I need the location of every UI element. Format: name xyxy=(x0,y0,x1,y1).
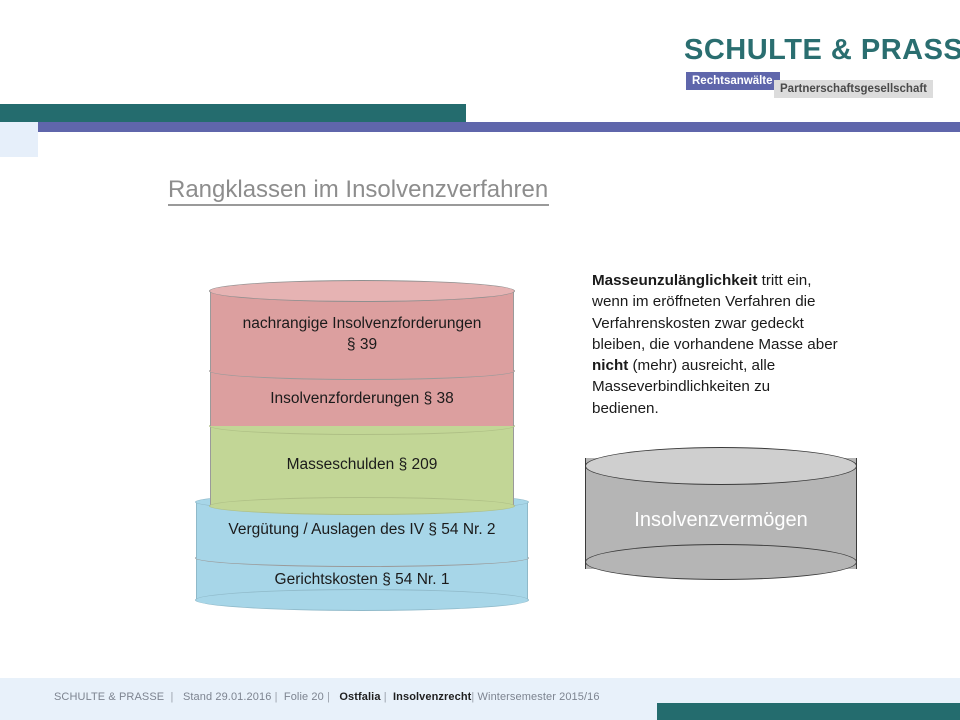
logo-wordmark: SCHULTE & PRASSE xyxy=(684,36,930,65)
cylinder-top-ellipse xyxy=(585,447,857,485)
logo-subtitle-group: Rechtsanwälte Partnerschaftsgesellschaft xyxy=(684,72,930,98)
page-title-underline xyxy=(168,204,549,206)
header-bar-purple xyxy=(38,122,960,132)
cylinder-bottom-ellipse xyxy=(585,544,857,580)
description-lead-term: Masseunzulänglichkeit xyxy=(592,272,757,289)
stack-segment-insolvenzforderungen: Insolvenzforderungen § 38 xyxy=(210,371,514,426)
stack-segment-label: nachrangige Insolvenzforderungen § 39 xyxy=(210,313,514,355)
footer-institution: Ostfalia xyxy=(339,691,380,703)
footer-sep-4: | xyxy=(381,691,393,703)
company-logo: SCHULTE & PRASSE Rechtsanwälte Partnersc… xyxy=(684,36,930,102)
footer-firm: SCHULTE & PRASSE xyxy=(54,691,164,703)
logo-tag-partnerschaftsgesellschaft: Partnerschaftsgesellschaft xyxy=(774,80,933,98)
segment-top-ellipse xyxy=(209,280,515,302)
footer-slide: Folie 20 xyxy=(284,691,324,703)
stack-segment-nachrangige-insolvenzforderungen: nachrangige Insolvenzforderungen § 39 xyxy=(210,291,514,371)
footer-sep-3: | xyxy=(324,691,340,703)
stack-bottom-ellipse xyxy=(195,589,529,611)
header-bar-teal xyxy=(0,104,466,122)
stack-segment-label: Vergütung / Auslagen des IV § 54 Nr. 2 xyxy=(196,519,528,540)
footer-text: SCHULTE & PRASSE | Stand 29.01.2016 | Fo… xyxy=(54,691,600,703)
insolvenzvermoegen-cylinder: Insolvenzvermögen xyxy=(585,447,857,580)
description-emphasis: nicht xyxy=(592,357,628,374)
rank-classes-stack-chart: nachrangige Insolvenzforderungen § 39 In… xyxy=(196,280,528,582)
footer-sep-2: | xyxy=(271,691,283,703)
stack-segment-gerichtskosten: Gerichtskosten § 54 Nr. 1 xyxy=(196,558,528,600)
footer-date: Stand 29.01.2016 xyxy=(183,691,271,703)
stack-segment-masseschulden: Masseschulden § 209 xyxy=(210,426,514,506)
stack-segment-label: Masseschulden § 209 xyxy=(210,454,514,475)
footer-sep-1: | xyxy=(164,691,183,703)
footer-course: Insolvenzrecht xyxy=(393,691,471,703)
description-paragraph: Masseunzulänglichkeit tritt ein, wenn im… xyxy=(592,270,840,419)
footer-bar-teal xyxy=(657,703,960,720)
footer-term: Wintersemester 2015/16 xyxy=(478,691,600,703)
header-accent-square xyxy=(0,122,38,157)
stack-segment-label: Gerichtskosten § 54 Nr. 1 xyxy=(196,569,528,590)
logo-tag-rechtsanwaelte: Rechtsanwälte xyxy=(686,72,780,90)
cylinder-label: Insolvenzvermögen xyxy=(585,509,857,532)
page-title: Rangklassen im Insolvenzverfahren xyxy=(168,176,548,204)
stack-segment-label: Insolvenzforderungen § 38 xyxy=(210,388,514,409)
segment-bottom-ellipse xyxy=(209,497,515,515)
